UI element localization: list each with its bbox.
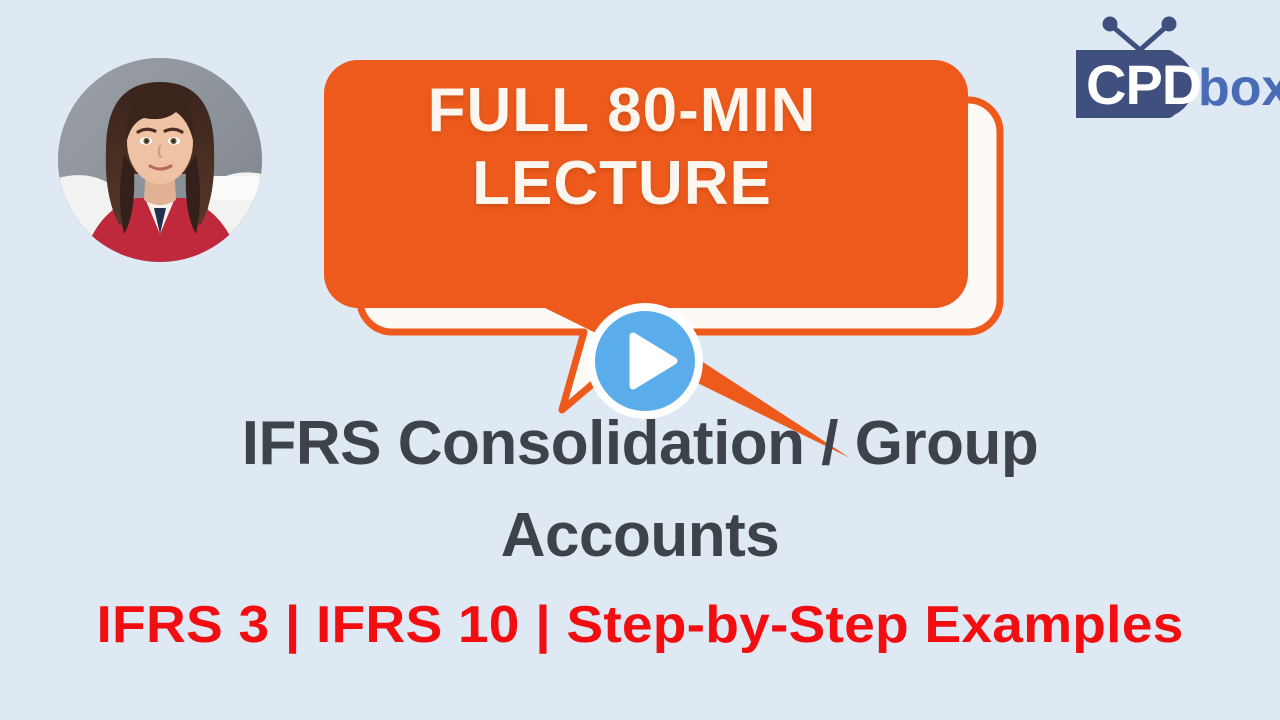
lecture-badge-line-1: FULL 80-MIN [352, 74, 892, 147]
logo-word-text: box [1198, 59, 1280, 117]
cpdbox-logo[interactable]: CPD box [1070, 12, 1280, 124]
page-subtitle: IFRS 3 | IFRS 10 | Step-by-Step Examples [0, 595, 1280, 655]
lecture-badge-line-2: LECTURE [352, 147, 892, 220]
video-thumbnail-canvas: FULL 80-MIN LECTURE IFRS Consolidation /… [0, 0, 1280, 720]
logo-mark-text: CPD [1086, 53, 1201, 116]
avatar-photo [58, 58, 262, 262]
avatar [58, 58, 262, 262]
lecture-badge-text: FULL 80-MIN LECTURE [352, 74, 892, 220]
tv-antenna-icon [1103, 17, 1177, 51]
page-title-line-2: Accounts [0, 490, 1280, 582]
page-title-line-1: IFRS Consolidation / Group [0, 398, 1280, 490]
page-title: IFRS Consolidation / Group Accounts [0, 398, 1280, 582]
